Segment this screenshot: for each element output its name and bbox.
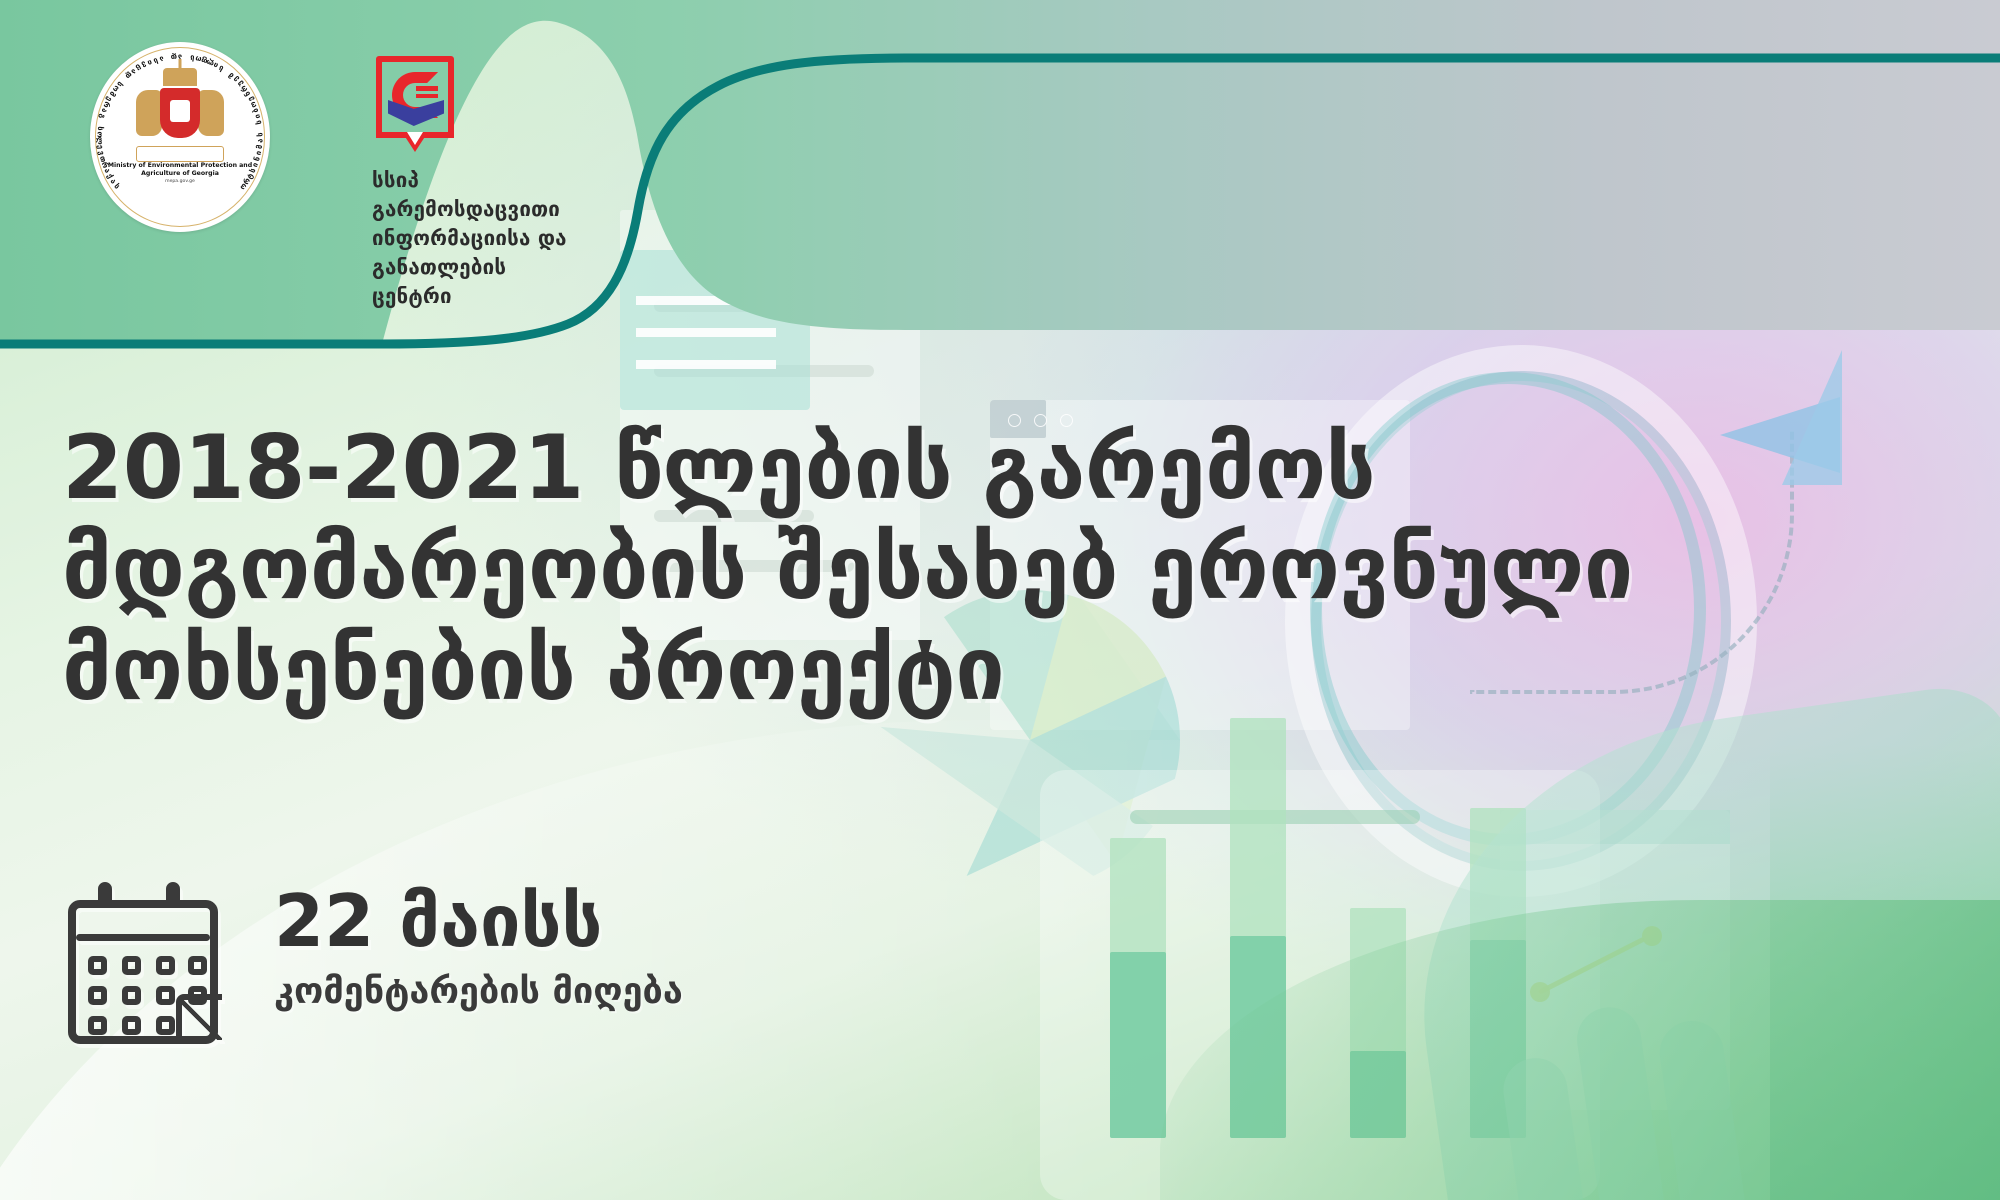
page-title: 2018-2021 წლების გარემოს მდგომარეობის შე… [62,418,1822,719]
date-block: 22 მაისს კომენტარების მიღება [62,870,683,1048]
center-logo: სსიპ გარემოსდაცვითი ინფორმაციისა და განა… [372,56,582,312]
title-line-3: მოხსენების პროექტი [62,619,1822,719]
bottom-green-shape [1160,900,2000,1200]
hand-illustration [1387,679,2000,1200]
title-line-2: მდგომარეობის შესახებ ეროვნული [62,518,1822,618]
ministry-logo-english-name: Ministry of Environmental Protection and… [105,162,255,178]
georgia-coat-of-arms-icon [134,68,226,160]
sparkline-illustration [1530,920,1700,1030]
calendar-icon [62,876,230,1048]
header-band: საქართველოს გარემოს დაცვისა და სოფლის მე… [0,0,2000,360]
necec-shield-book-icon [376,56,454,152]
ministry-logo: საქართველოს გარემოს დაცვისა და სოფლის მე… [90,42,270,232]
chart-bar [1350,908,1406,1138]
title-line-1: 2018-2021 წლების გარემოს [62,418,1822,518]
center-logo-line-2: ინფორმაციისა და [372,224,582,253]
chart-bar [1470,808,1526,1138]
bar-chart-card [1040,770,1600,1200]
header-logos: საქართველოს გარემოს დაცვისა და სოფლის მე… [0,0,2000,360]
chart-bar [1110,838,1166,1138]
center-logo-line-3: განათლების ცენტრი [372,253,582,311]
date-caption: კომენტარების მიღება [274,971,683,1012]
chart-title-placeholder [1130,810,1420,824]
date-value: 22 მაისს [274,884,683,959]
ministry-logo-url: mepa.gov.ge [165,179,195,184]
center-logo-line-1: სსიპ გარემოსდაცვითი [372,166,582,224]
side-card-illustration [1500,810,1730,1110]
chart-bar [1230,718,1286,1138]
poster-canvas: საქართველოს გარემოს დაცვისა და სოფლის მე… [0,0,2000,1200]
